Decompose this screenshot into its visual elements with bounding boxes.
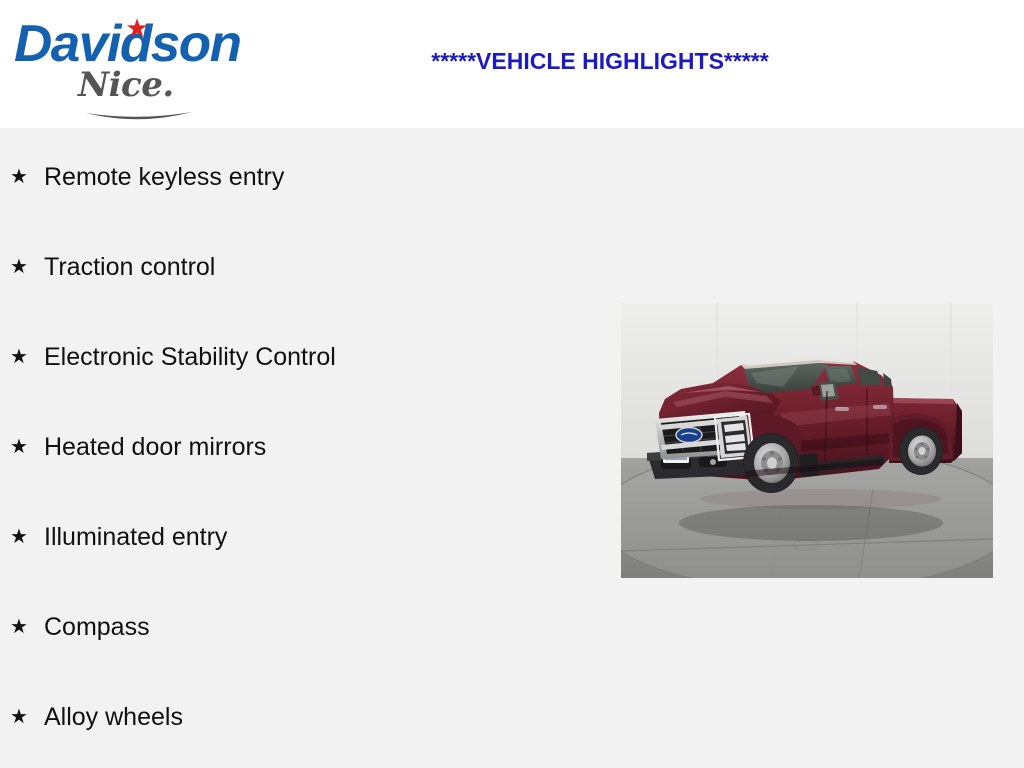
list-item: ★ Traction control bbox=[10, 250, 215, 284]
star-icon: ★ bbox=[124, 15, 150, 41]
vehicle-highlights-list: ★ Remote keyless entry ★ Traction contro… bbox=[0, 128, 620, 768]
star-bullet-icon: ★ bbox=[10, 430, 44, 464]
slide-page: Davidson ★ Nice. *****VEHICLE HIGHLIGHTS… bbox=[0, 0, 1024, 768]
list-item: ★ Heated door mirrors bbox=[10, 430, 266, 464]
star-bullet-icon: ★ bbox=[10, 700, 44, 734]
highlight-label: Remote keyless entry bbox=[44, 160, 284, 194]
page-title: *****VEHICLE HIGHLIGHTS***** bbox=[300, 48, 900, 75]
star-bullet-icon: ★ bbox=[10, 520, 44, 554]
logo-swoosh-underline bbox=[84, 110, 194, 124]
list-item: ★ Remote keyless entry bbox=[10, 160, 284, 194]
star-bullet-icon: ★ bbox=[10, 340, 44, 374]
list-item: ★ Electronic Stability Control bbox=[10, 340, 336, 374]
dealer-logo: Davidson ★ Nice. bbox=[12, 6, 262, 124]
header-band: Davidson ★ Nice. *****VEHICLE HIGHLIGHTS… bbox=[0, 0, 1024, 128]
list-item: ★ Compass bbox=[10, 610, 150, 644]
highlight-label: Alloy wheels bbox=[44, 700, 183, 734]
highlight-label: Electronic Stability Control bbox=[44, 340, 336, 374]
list-item: ★ Alloy wheels bbox=[10, 700, 183, 734]
highlight-label: Compass bbox=[44, 610, 150, 644]
star-bullet-icon: ★ bbox=[10, 610, 44, 644]
vehicle-photo bbox=[621, 303, 993, 578]
highlight-label: Traction control bbox=[44, 250, 215, 284]
vehicle-photo-frame bbox=[621, 303, 993, 578]
list-item: ★ Illuminated entry bbox=[10, 520, 227, 554]
logo-script-nice: Nice. bbox=[78, 68, 174, 102]
highlight-label: Illuminated entry bbox=[44, 520, 227, 554]
highlight-label: Heated door mirrors bbox=[44, 430, 266, 464]
star-bullet-icon: ★ bbox=[10, 160, 44, 194]
star-bullet-icon: ★ bbox=[10, 250, 44, 284]
